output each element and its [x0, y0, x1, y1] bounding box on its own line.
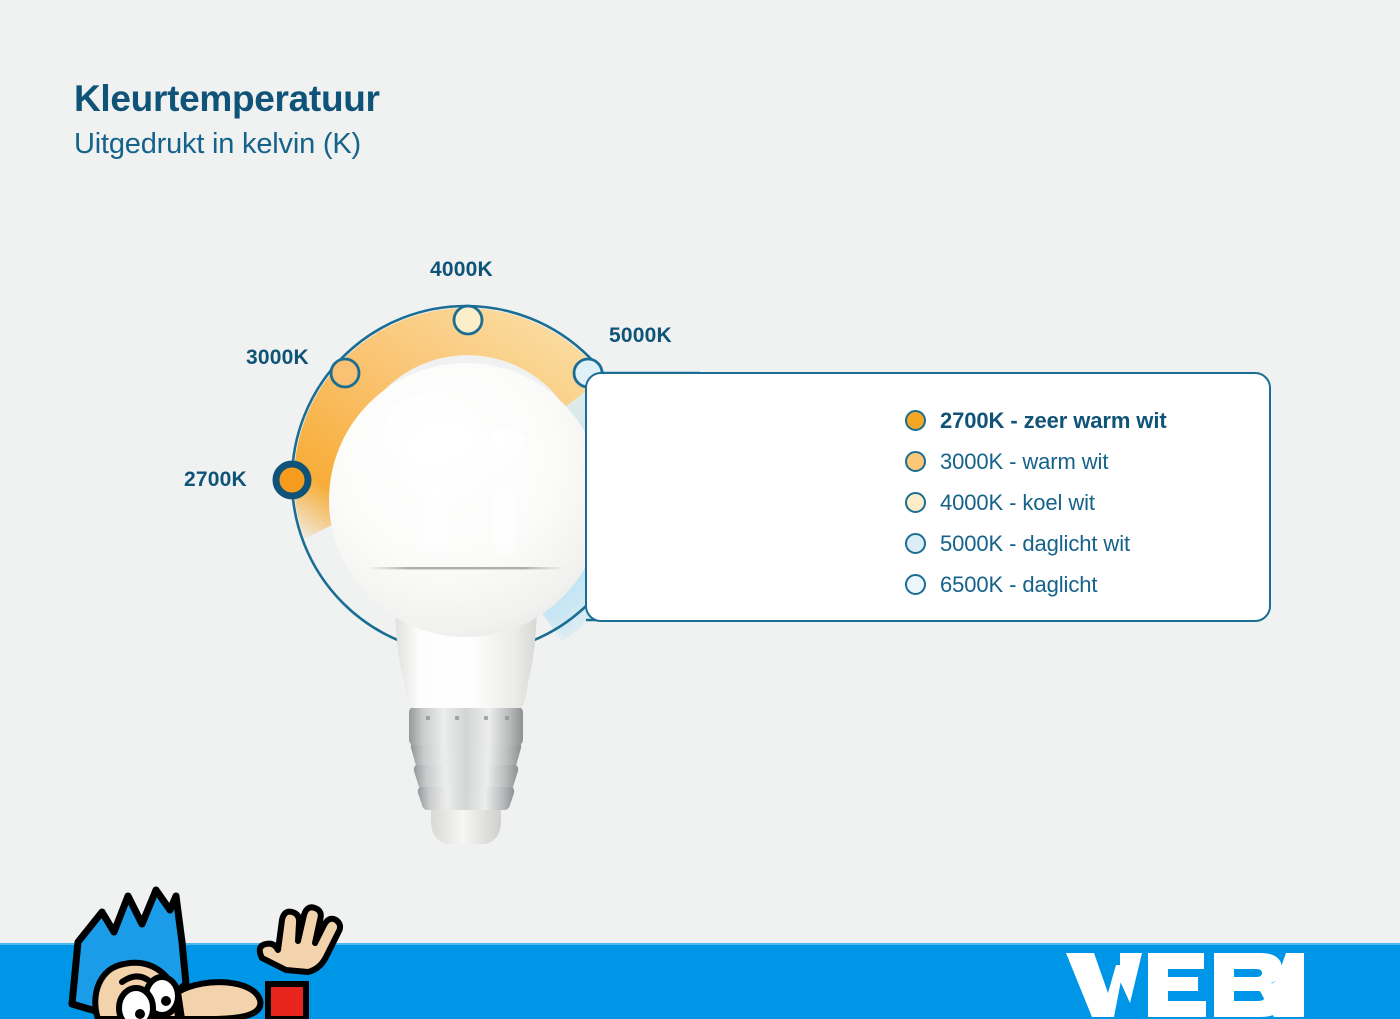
mascot-pupil-left	[135, 1009, 145, 1019]
legend-label-6500k: 6500K - daglicht	[940, 572, 1097, 598]
legend-list: 2700K - zeer warm wit 3000K - warm wit 4…	[905, 402, 1167, 603]
mascot-illustration	[10, 884, 350, 1019]
weba-logo	[1064, 947, 1304, 1019]
wheel-marker-2700k-selected	[276, 464, 308, 496]
legend-label-5000k: 5000K - daglicht wit	[940, 531, 1130, 557]
legend-swatch-6500k-icon	[905, 574, 926, 595]
mascot-hand	[260, 907, 340, 972]
mascot-nose	[178, 982, 260, 1019]
legend-panel: 2700K - zeer warm wit 3000K - warm wit 4…	[585, 372, 1271, 622]
legend-item-2700k[interactable]: 2700K - zeer warm wit	[905, 402, 1167, 439]
mascot-sleeve	[268, 984, 306, 1019]
legend-label-4000k: 4000K - koel wit	[940, 490, 1095, 516]
legend-swatch-3000k-icon	[905, 451, 926, 472]
header: Kleurtemperatuur Uitgedrukt in kelvin (K…	[74, 78, 380, 161]
wheel-label-4000k: 4000K	[430, 258, 493, 282]
legend-swatch-2700k-icon	[905, 410, 926, 431]
wheel-label-2700k: 2700K	[184, 468, 247, 492]
page-title: Kleurtemperatuur	[74, 78, 380, 121]
wheel-label-3000k: 3000K	[246, 346, 309, 370]
light-bulb-illustration	[329, 363, 603, 844]
wheel-marker-3000k	[331, 359, 359, 387]
mascot-pupil-right	[161, 996, 171, 1006]
infographic-canvas: Kleurtemperatuur Uitgedrukt in kelvin (K…	[0, 0, 1400, 1019]
legend-item-6500k[interactable]: 6500K - daglicht	[905, 566, 1167, 603]
legend-swatch-4000k-icon	[905, 492, 926, 513]
legend-label-2700k: 2700K - zeer warm wit	[940, 408, 1167, 434]
legend-item-4000k[interactable]: 4000K - koel wit	[905, 484, 1167, 521]
legend-label-3000k: 3000K - warm wit	[940, 449, 1108, 475]
legend-swatch-5000k-icon	[905, 533, 926, 554]
legend-item-5000k[interactable]: 5000K - daglicht wit	[905, 525, 1167, 562]
page-subtitle: Uitgedrukt in kelvin (K)	[74, 127, 380, 162]
legend-item-3000k[interactable]: 3000K - warm wit	[905, 443, 1167, 480]
wheel-marker-4000k	[454, 306, 482, 334]
wheel-label-5000k: 5000K	[609, 324, 672, 348]
